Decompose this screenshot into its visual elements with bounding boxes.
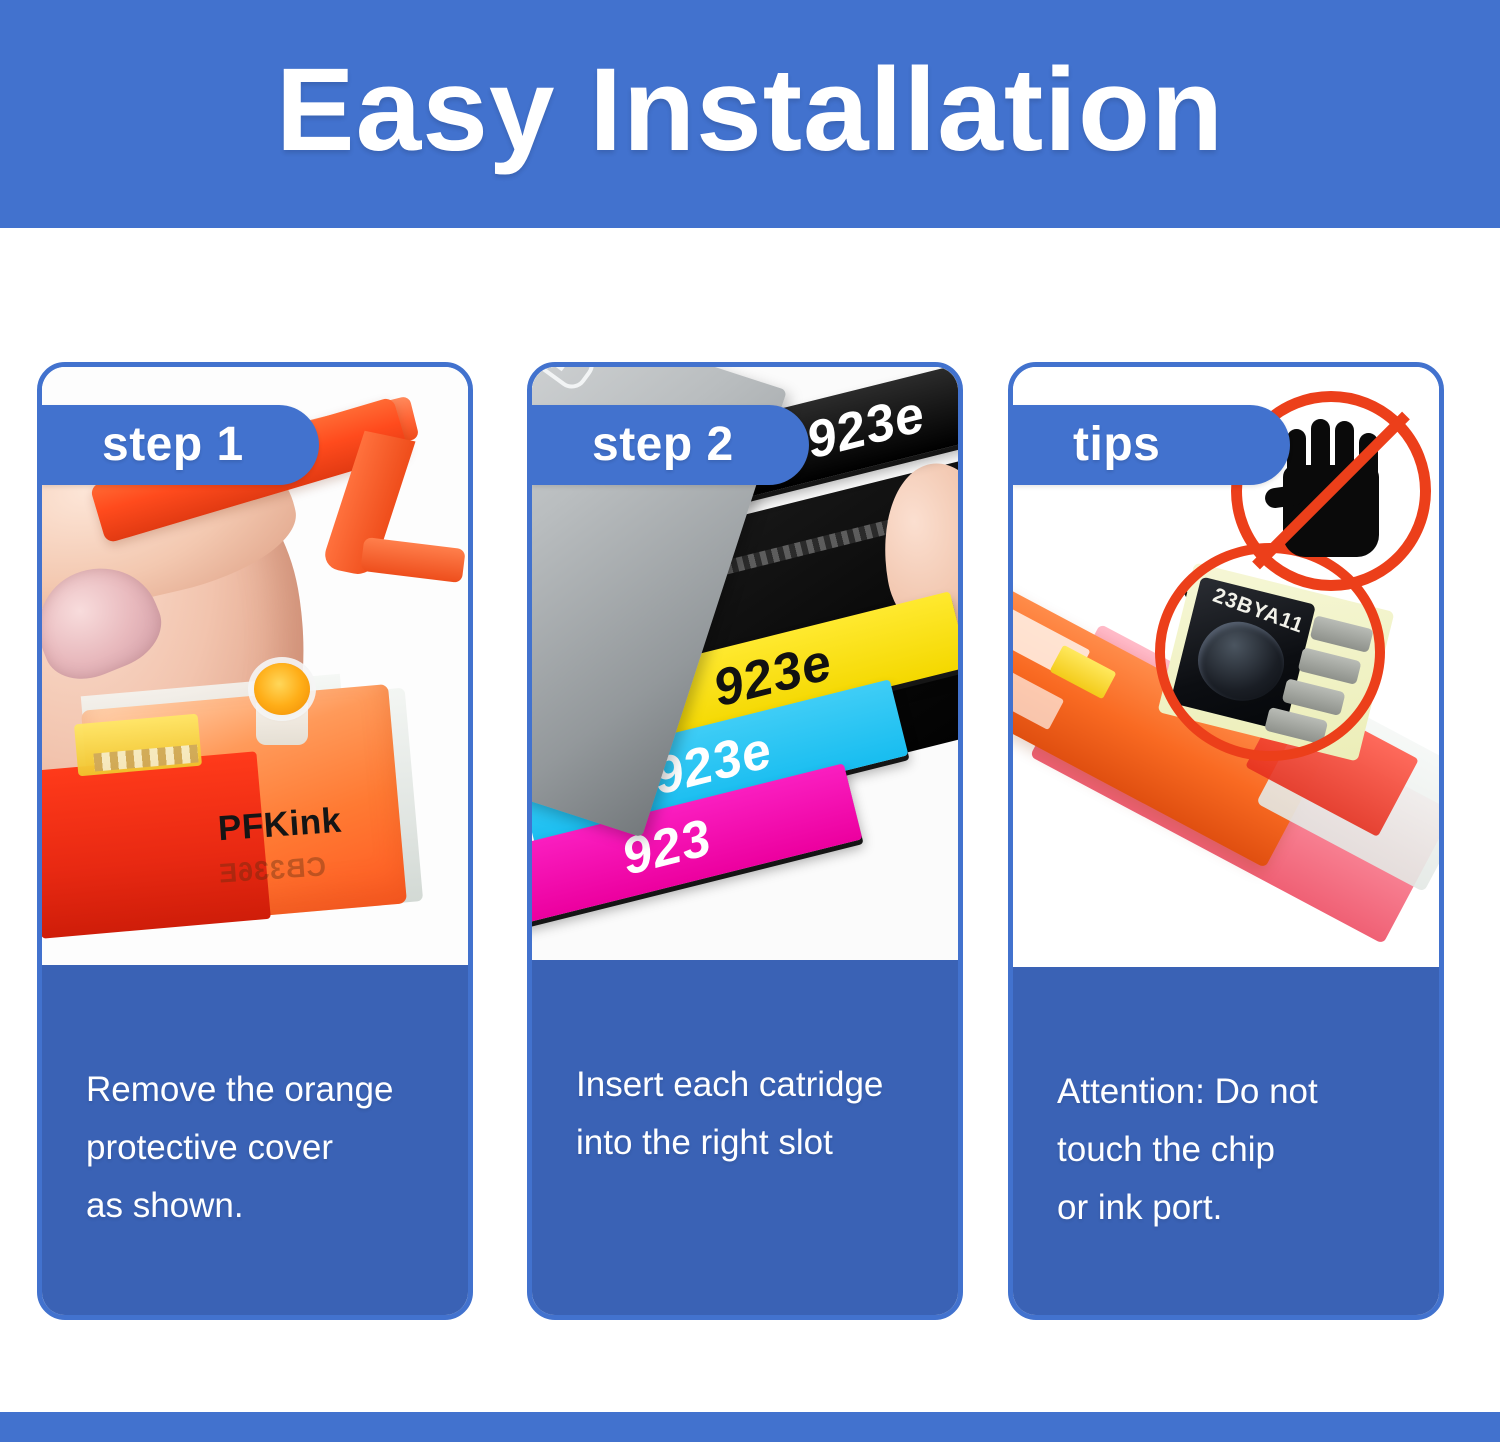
step-1-pill[interactable]: step 1 <box>42 405 319 485</box>
steps-card-row: PFKink CB336E step 1 Remove the orange p… <box>0 362 1500 1322</box>
step-2-caption: Insert each catridge into the right slot <box>532 960 958 1315</box>
printer-cartridge-icon <box>532 367 600 395</box>
tips-caption-line-3: or ink port. <box>1057 1179 1397 1237</box>
page-title: Easy Installation <box>276 51 1224 169</box>
step-2-caption-line-1: Insert each catridge <box>576 1056 916 1114</box>
footer-bar <box>0 1412 1500 1442</box>
tips-card: PFKink 23BYA11 <box>1008 362 1444 1320</box>
tips-pill-label: tips <box>1013 421 1160 469</box>
tips-caption-line-1: Attention: Do not <box>1057 1063 1397 1121</box>
ink-port-icon <box>254 663 310 715</box>
tips-pill[interactable]: tips <box>1013 405 1290 485</box>
step-1-caption-line-1: Remove the orange <box>86 1061 426 1119</box>
step-2-pill[interactable]: step 2 <box>532 405 809 485</box>
step-1-caption-line-2: protective cover <box>86 1119 426 1177</box>
step-card-1: PFKink CB336E step 1 Remove the orange p… <box>37 362 473 1320</box>
tips-caption-line-2: touch the chip <box>1057 1121 1397 1179</box>
step-1-caption-line-3: as shown. <box>86 1177 426 1235</box>
step-card-2: PFKink 923e PFKink 923e PFKink 923e <box>527 362 963 1320</box>
orange-cover-foot-shape <box>360 537 465 583</box>
tips-caption: Attention: Do not touch the chip or ink … <box>1013 967 1439 1315</box>
step-2-caption-line-2: into the right slot <box>576 1114 916 1172</box>
step-2-pill-label: step 2 <box>532 421 734 469</box>
step-1-caption: Remove the orange protective cover as sh… <box>42 965 468 1315</box>
step-1-pill-label: step 1 <box>42 421 244 469</box>
header-banner: Easy Installation <box>0 0 1500 228</box>
